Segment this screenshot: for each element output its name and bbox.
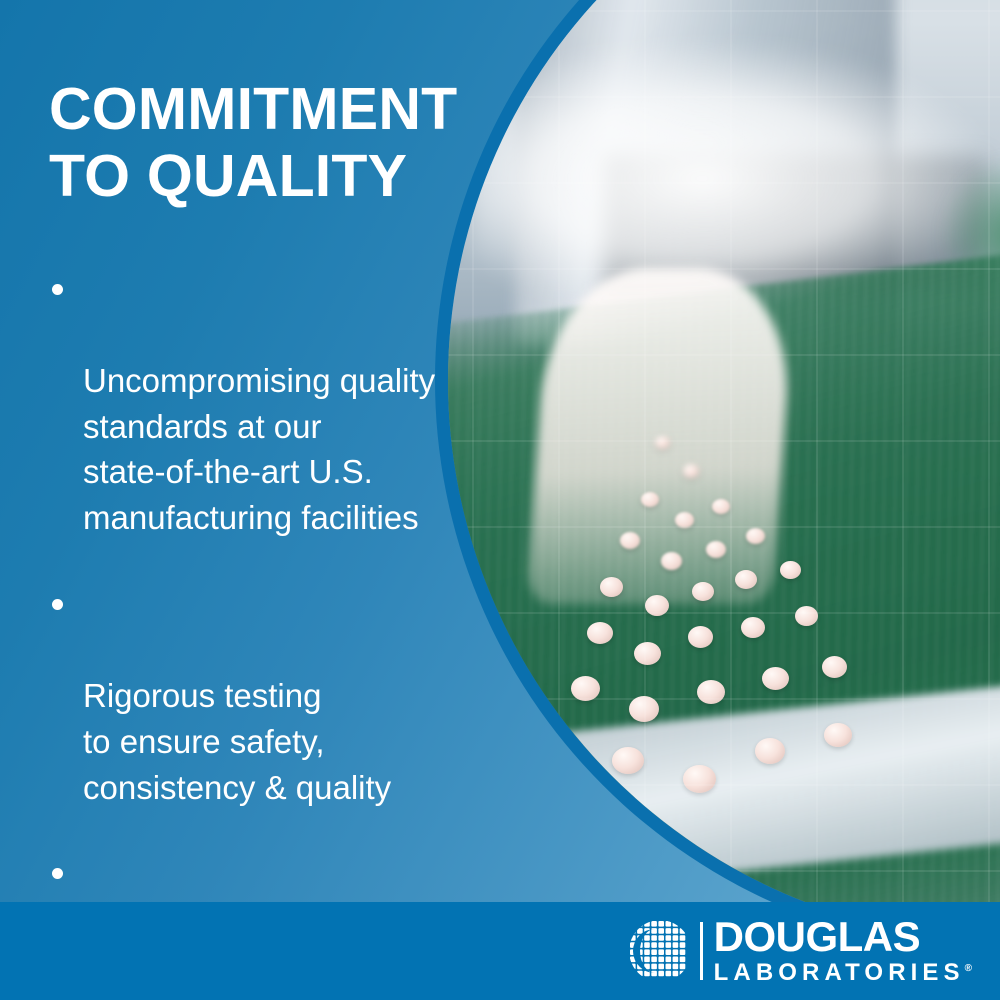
douglas-grid-sphere-logomark	[629, 920, 691, 982]
list-item: Uncompromising quality standards at our …	[49, 266, 509, 541]
list-item-label: Rigorous testing to ensure safety, consi…	[83, 677, 391, 806]
circular-photo-panel	[448, 0, 1000, 940]
logo-divider	[700, 922, 703, 980]
list-item: Rigorous testing to ensure safety, consi…	[49, 581, 509, 810]
benefits-list: Uncompromising quality standards at our …	[49, 266, 509, 1000]
photo-watermark-grid	[448, 0, 1000, 940]
logo-wordmark: DOUGLAS LABORATORIES®	[714, 916, 972, 985]
logo-name-primary: DOUGLAS	[714, 916, 972, 957]
logo-name-secondary-text: LABORATORIES	[714, 959, 965, 986]
logo-name-secondary: LABORATORIES®	[714, 960, 972, 985]
bullet-dot-icon	[52, 868, 63, 879]
list-item-label: Uncompromising quality standards at our …	[83, 362, 435, 537]
marketing-graphic: COMMITMENT TO QUALITY Uncompromising qua…	[0, 0, 1000, 1000]
footer-bar: DOUGLAS LABORATORIES®	[0, 902, 1000, 1000]
bullet-dot-icon	[52, 599, 63, 610]
brand-logo: DOUGLAS LABORATORIES®	[629, 917, 972, 985]
bullet-dot-icon	[52, 284, 63, 295]
registered-trademark-icon: ®	[965, 963, 972, 974]
manufacturing-photo	[448, 0, 1000, 940]
page-title: COMMITMENT TO QUALITY	[49, 76, 519, 211]
